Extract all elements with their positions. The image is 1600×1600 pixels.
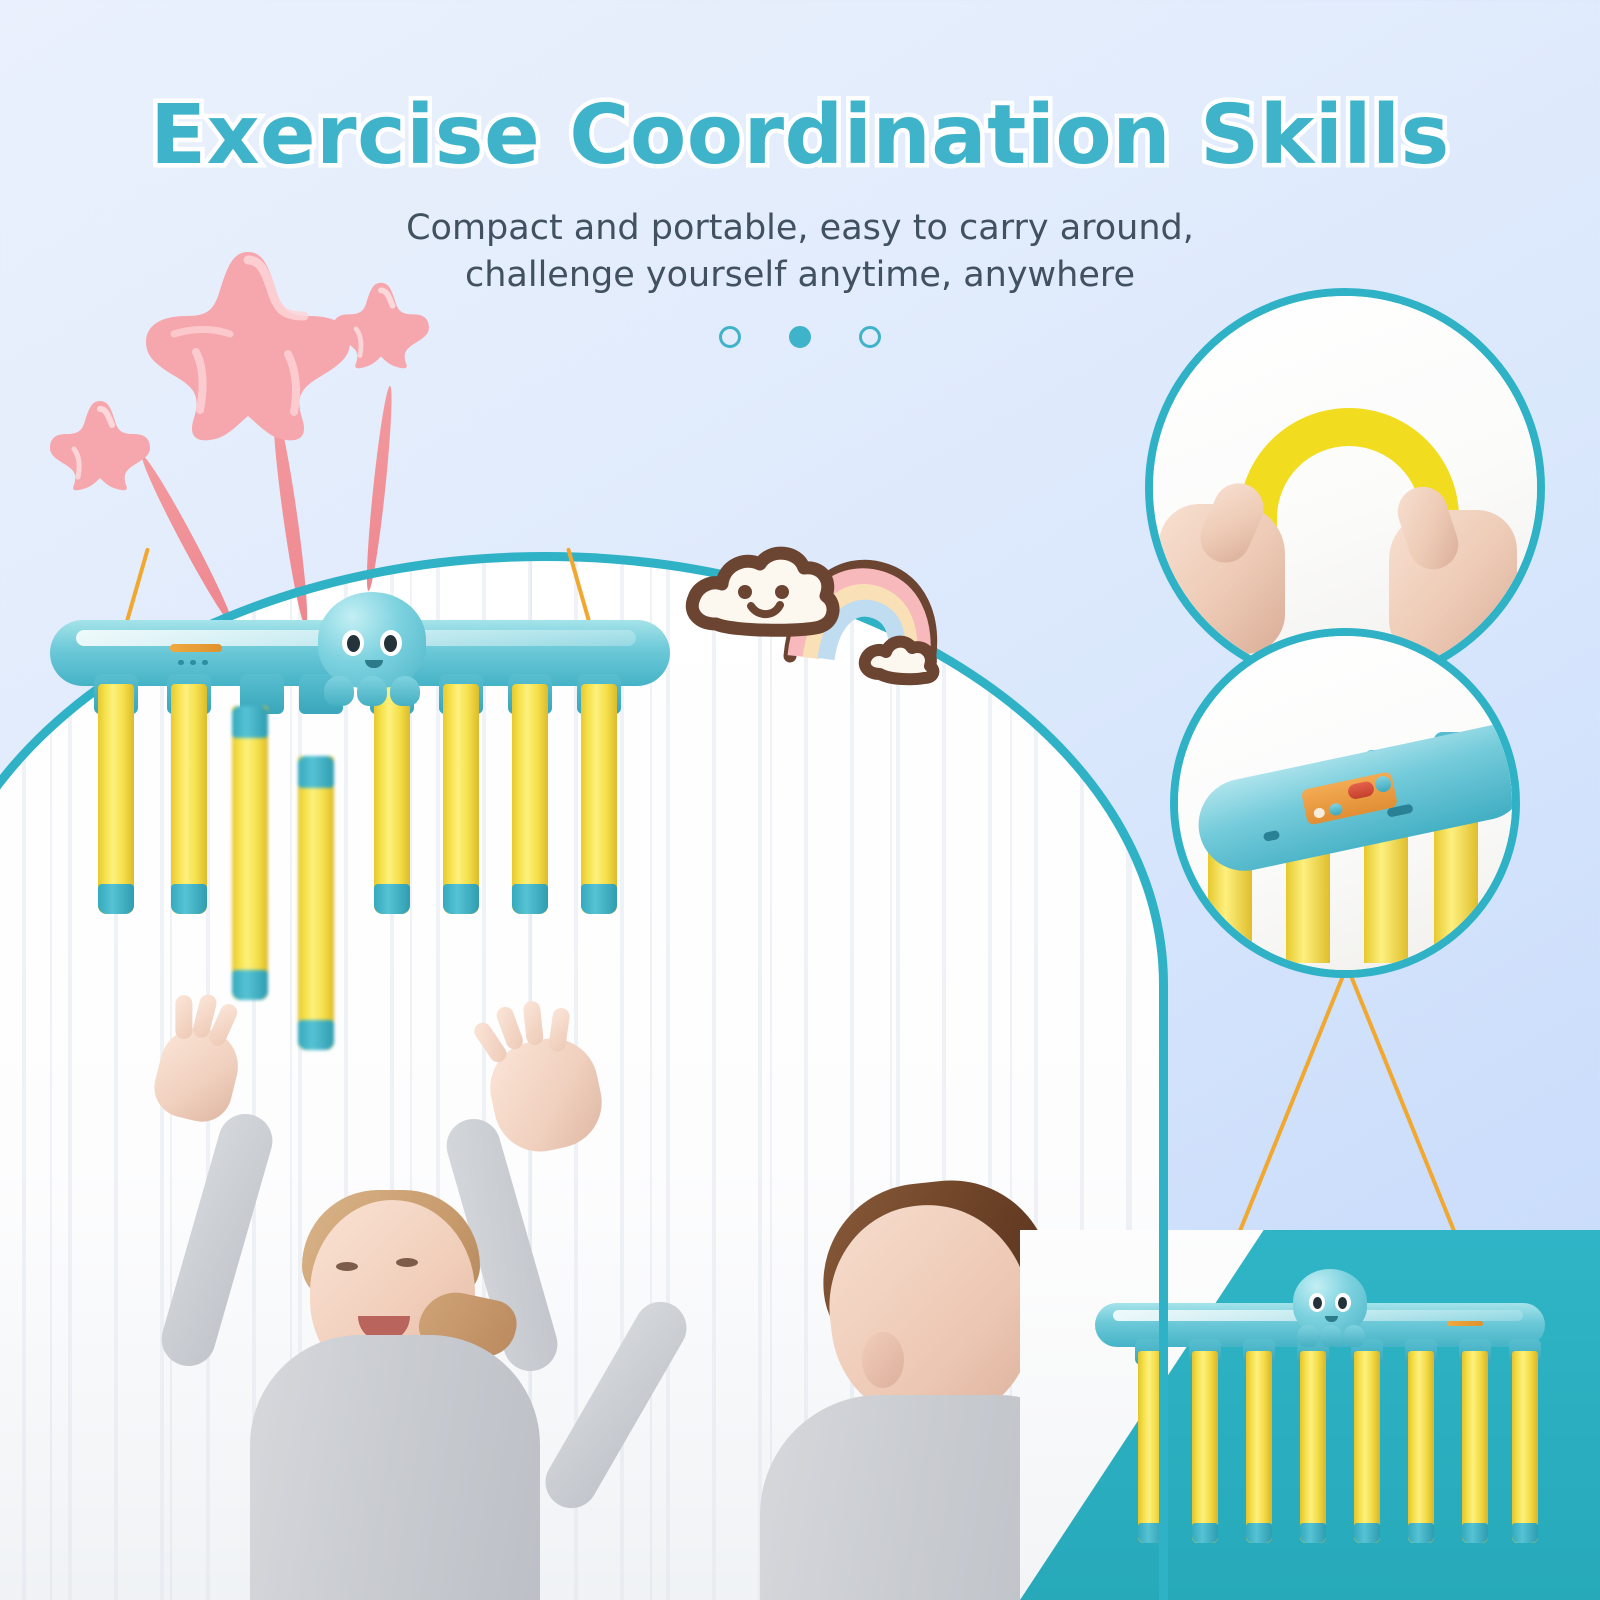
header: Exercise Coordination Skills Compact and… [0, 0, 1600, 348]
child-girl [120, 1080, 680, 1600]
subtitle-line-2: challenge yourself anytime, anywhere [0, 252, 1600, 299]
speaker-holes [178, 660, 216, 665]
product-stick [1512, 1351, 1538, 1543]
poster-canvas: Exercise Coordination Skills Compact and… [0, 0, 1600, 1600]
toy-stick [98, 684, 134, 914]
carousel-dot-1[interactable] [719, 326, 741, 348]
toy-stick [581, 684, 617, 914]
cloud-eye-left [738, 585, 752, 599]
octopus-leg [1320, 1325, 1342, 1347]
button-red[interactable] [1347, 780, 1376, 800]
boy-ear [862, 1332, 904, 1388]
speaker-slot [1263, 830, 1281, 842]
toy-stick [171, 684, 207, 914]
product-stick [1300, 1351, 1326, 1543]
toy-octopus-stick-drop [50, 600, 690, 960]
carousel-dot-2-active[interactable] [789, 326, 811, 348]
product-stick [1138, 1351, 1164, 1543]
product-stick [1462, 1351, 1488, 1543]
toy-stick [443, 684, 479, 914]
octopus-pupil [1313, 1297, 1322, 1309]
carousel-dots[interactable] [0, 326, 1600, 348]
page-title: Exercise Coordination Skills [0, 88, 1600, 183]
octopus-leg [324, 676, 354, 706]
toy-stick [512, 684, 548, 914]
octopus-mascot-icon [318, 592, 426, 688]
octopus-eye-right [1335, 1293, 1351, 1312]
rainbow-cloud-icon [672, 528, 942, 688]
octopus-leg [357, 676, 387, 706]
bar-control-panel [170, 644, 222, 652]
octopus-eye-left [342, 630, 364, 656]
toy-stick [374, 684, 410, 914]
girl-left-arm [155, 1108, 279, 1373]
product-octopus-mascot-icon [1293, 1269, 1367, 1335]
product-stick [1408, 1351, 1434, 1543]
inset-control-panel[interactable] [1170, 628, 1520, 978]
product-stick [1246, 1351, 1272, 1543]
girl-eye-right [396, 1258, 418, 1267]
cloud-eye-right [775, 585, 789, 599]
finger [175, 995, 192, 1039]
product-shot-toy [1095, 1285, 1565, 1600]
falling-stick-1 [232, 706, 268, 1000]
product-stick [1192, 1351, 1218, 1543]
subtitle-line-1: Compact and portable, easy to carry arou… [0, 205, 1600, 252]
octopus-pupil [384, 635, 397, 652]
falling-stick-2 [298, 756, 334, 1050]
product-stick [1354, 1351, 1380, 1543]
octopus-eye-left [1309, 1293, 1325, 1312]
girl-eye-left [336, 1262, 358, 1271]
connector-cord-right [1345, 965, 1472, 1272]
octopus-head [318, 592, 426, 688]
octopus-pupil [347, 635, 360, 652]
octopus-leg [1343, 1325, 1365, 1347]
star-small-left-icon [50, 395, 150, 491]
page-subtitle: Compact and portable, easy to carry arou… [0, 205, 1600, 300]
girl-torso [250, 1335, 540, 1600]
button-teal-large[interactable] [1374, 775, 1393, 794]
product-control-panel [1447, 1321, 1483, 1326]
octopus-leg [1297, 1325, 1319, 1347]
carousel-dot-3[interactable] [859, 326, 881, 348]
octopus-pupil [1338, 1297, 1347, 1309]
button-white[interactable] [1313, 807, 1326, 819]
control-panel[interactable] [1301, 771, 1398, 825]
octopus-eye-right [380, 630, 402, 656]
octopus-leg [390, 676, 420, 706]
button-teal-small[interactable] [1328, 802, 1343, 816]
connector-cord-left [1222, 965, 1349, 1272]
